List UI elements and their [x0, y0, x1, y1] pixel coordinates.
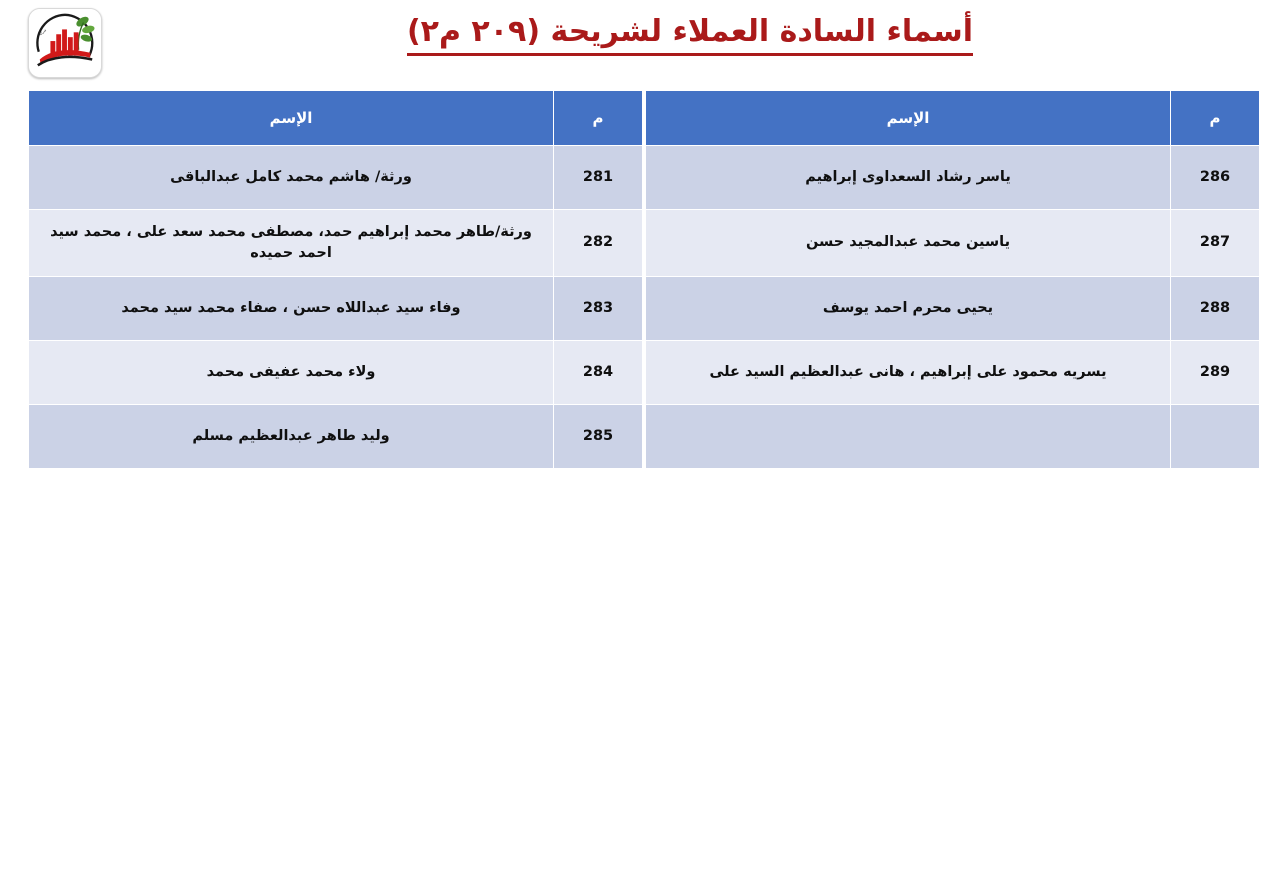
table-row: 281 ورثة/ هاشم محمد كامل عبدالباقى — [29, 146, 642, 209]
table-row — [646, 405, 1259, 468]
customers-table-left: م الإسم 286 ياسر رشاد السعداوى إبراهيم 2… — [645, 90, 1260, 469]
row-number: 283 — [554, 277, 642, 340]
company-logo-icon: شركة — [29, 9, 101, 77]
table-row: 282 ورثة/طاهر محمد إبراهيم حمد، مصطفى مح… — [29, 210, 642, 276]
column-header-name: الإسم — [646, 91, 1170, 145]
company-logo: شركة — [28, 8, 102, 78]
document-page: شركة أسماء السادة العملاء لشريحة (٢٠٩ م٢… — [0, 0, 1280, 886]
row-number: 287 — [1171, 210, 1259, 276]
table-row: 283 وفاء سيد عبداللاه حسن ، صفاء محمد سي… — [29, 277, 642, 340]
column-header-number: م — [554, 91, 642, 145]
table-row: 289 يسريه محمود على إبراهيم ، هانى عبدال… — [646, 341, 1259, 404]
page-title-container: أسماء السادة العملاء لشريحة (٢٠٩ م٢) — [120, 14, 1260, 56]
column-header-number: م — [1171, 91, 1259, 145]
row-name: وليد طاهر عبدالعظيم مسلم — [29, 405, 553, 468]
row-number: 286 — [1171, 146, 1259, 209]
row-name: يسريه محمود على إبراهيم ، هانى عبدالعظيم… — [646, 341, 1170, 404]
row-number: 281 — [554, 146, 642, 209]
table-row: 287 ياسين محمد عبدالمجيد حسن — [646, 210, 1259, 276]
row-name — [646, 405, 1170, 468]
row-number — [1171, 405, 1259, 468]
row-number: 282 — [554, 210, 642, 276]
table-row: 288 يحيى محرم احمد يوسف — [646, 277, 1259, 340]
table-header-row: م الإسم — [646, 91, 1259, 145]
column-header-name: الإسم — [29, 91, 553, 145]
page-title: أسماء السادة العملاء لشريحة (٢٠٩ م٢) — [407, 14, 973, 56]
table-row: 284 ولاء محمد عفيفى محمد — [29, 341, 642, 404]
row-number: 285 — [554, 405, 642, 468]
row-number: 284 — [554, 341, 642, 404]
table-header-row: م الإسم — [29, 91, 642, 145]
tables-area: م الإسم 281 ورثة/ هاشم محمد كامل عبدالبا… — [28, 90, 1253, 469]
row-name: وفاء سيد عبداللاه حسن ، صفاء محمد سيد مح… — [29, 277, 553, 340]
row-name: ولاء محمد عفيفى محمد — [29, 341, 553, 404]
customers-table-right: م الإسم 281 ورثة/ هاشم محمد كامل عبدالبا… — [28, 90, 643, 469]
row-name: ياسين محمد عبدالمجيد حسن — [646, 210, 1170, 276]
row-name: ياسر رشاد السعداوى إبراهيم — [646, 146, 1170, 209]
table-row: 285 وليد طاهر عبدالعظيم مسلم — [29, 405, 642, 468]
row-name: ورثة/ هاشم محمد كامل عبدالباقى — [29, 146, 553, 209]
row-name: ورثة/طاهر محمد إبراهيم حمد، مصطفى محمد س… — [29, 210, 553, 276]
row-name: يحيى محرم احمد يوسف — [646, 277, 1170, 340]
row-number: 288 — [1171, 277, 1259, 340]
table-row: 286 ياسر رشاد السعداوى إبراهيم — [646, 146, 1259, 209]
row-number: 289 — [1171, 341, 1259, 404]
